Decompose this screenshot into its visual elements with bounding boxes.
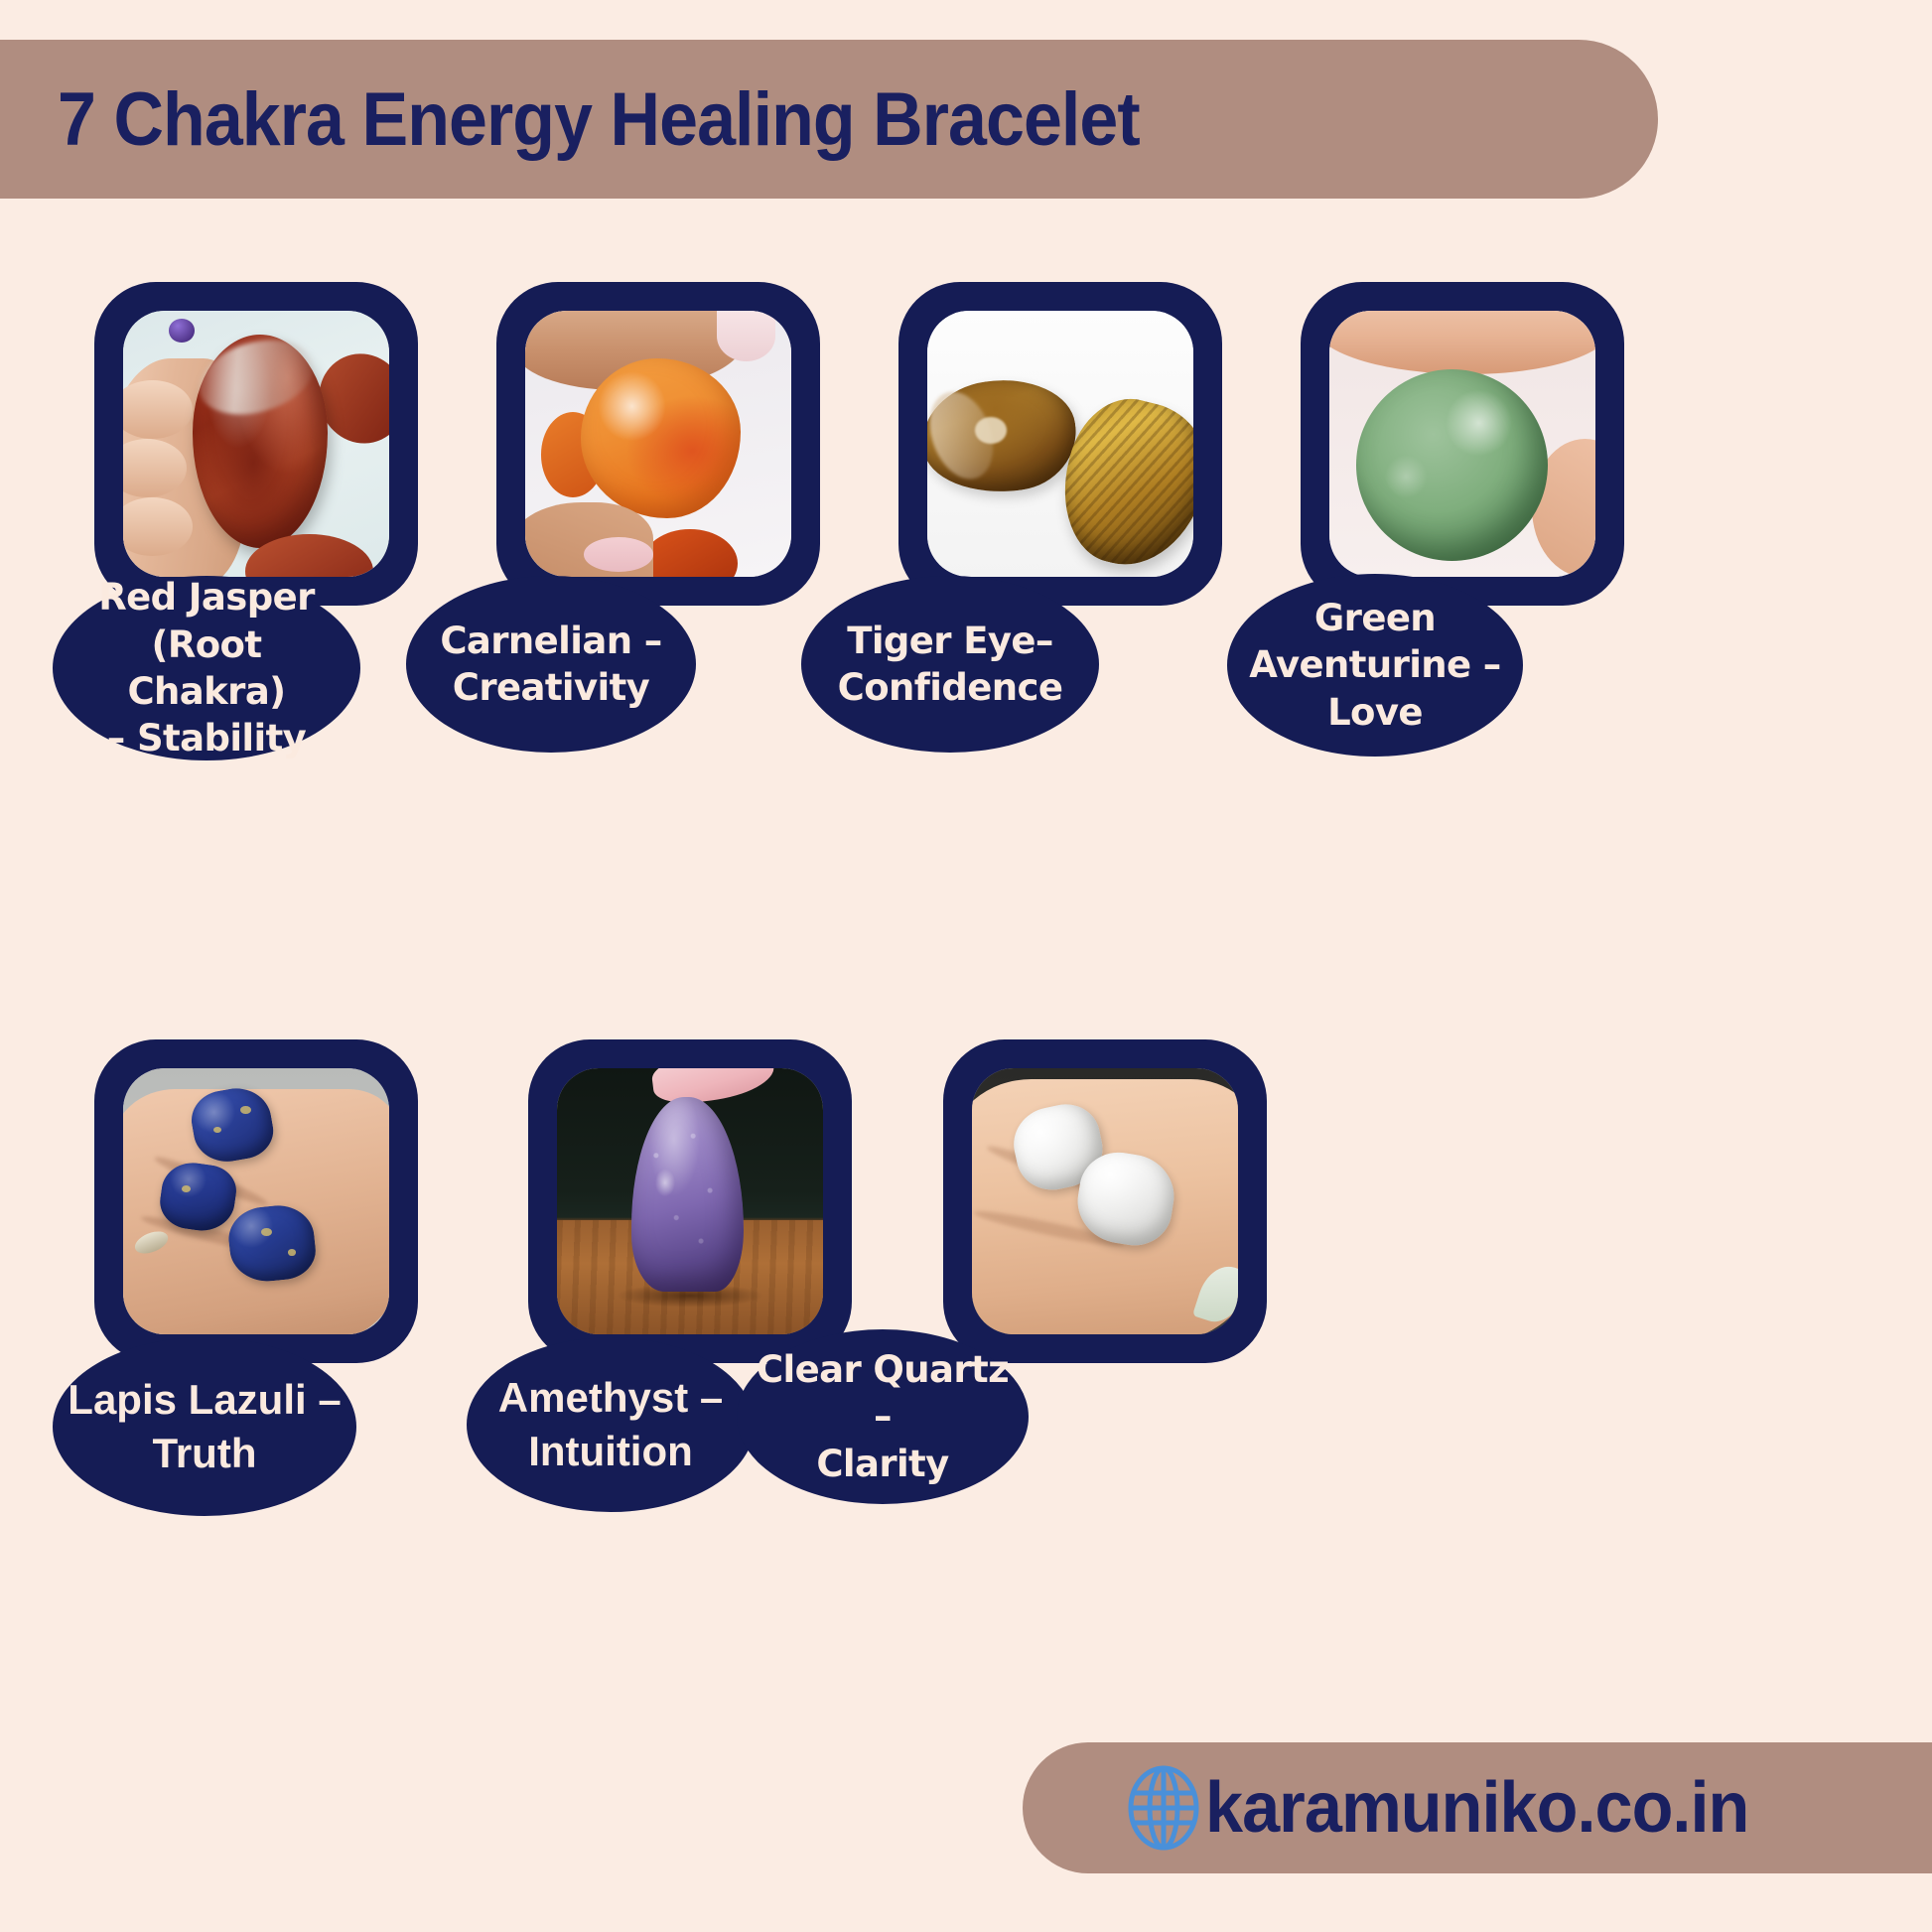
stone-label-carnelian: Carnelian – Creativity bbox=[406, 576, 696, 753]
stone-card-carnelian[interactable] bbox=[496, 282, 820, 606]
stone-photo-clear-quartz bbox=[972, 1068, 1238, 1334]
stone-card-lapis-lazuli[interactable] bbox=[94, 1039, 418, 1363]
stone-label-tiger-eye: Tiger Eye– Confidence bbox=[801, 576, 1099, 753]
globe-icon bbox=[1126, 1765, 1201, 1851]
stone-photo-amethyst bbox=[557, 1068, 823, 1334]
stone-label-clear-quartz: Clear Quartz – Clarity bbox=[737, 1329, 1029, 1504]
stone-photo-green-aventurine bbox=[1329, 311, 1595, 577]
footer-bar: karamuniko.co.in bbox=[1023, 1742, 1932, 1873]
stone-card-clear-quartz[interactable] bbox=[943, 1039, 1267, 1363]
stone-label-amethyst: Amethyst – Intuition bbox=[467, 1337, 755, 1512]
stone-card-green-aventurine[interactable] bbox=[1301, 282, 1624, 606]
stone-label-lapis-lazuli: Lapis Lazuli – Truth bbox=[53, 1337, 356, 1516]
website-url[interactable]: karamuniko.co.in bbox=[1205, 1767, 1748, 1849]
stone-photo-red-jasper bbox=[123, 311, 389, 577]
stone-label-red-jasper: Red Jasper (Root Chakra) – Stability bbox=[53, 576, 360, 760]
title-banner: 7 Chakra Energy Healing Bracelet bbox=[0, 40, 1658, 199]
page-title: 7 Chakra Energy Healing Bracelet bbox=[58, 76, 1140, 163]
stone-label-green-aventurine: Green Aventurine – Love bbox=[1227, 574, 1523, 757]
stone-card-amethyst[interactable] bbox=[528, 1039, 852, 1363]
stone-photo-carnelian bbox=[525, 311, 791, 577]
stone-photo-lapis-lazuli bbox=[123, 1068, 389, 1334]
stone-photo-tiger-eye bbox=[927, 311, 1193, 577]
stone-card-red-jasper[interactable] bbox=[94, 282, 418, 606]
stone-card-tiger-eye[interactable] bbox=[898, 282, 1222, 606]
